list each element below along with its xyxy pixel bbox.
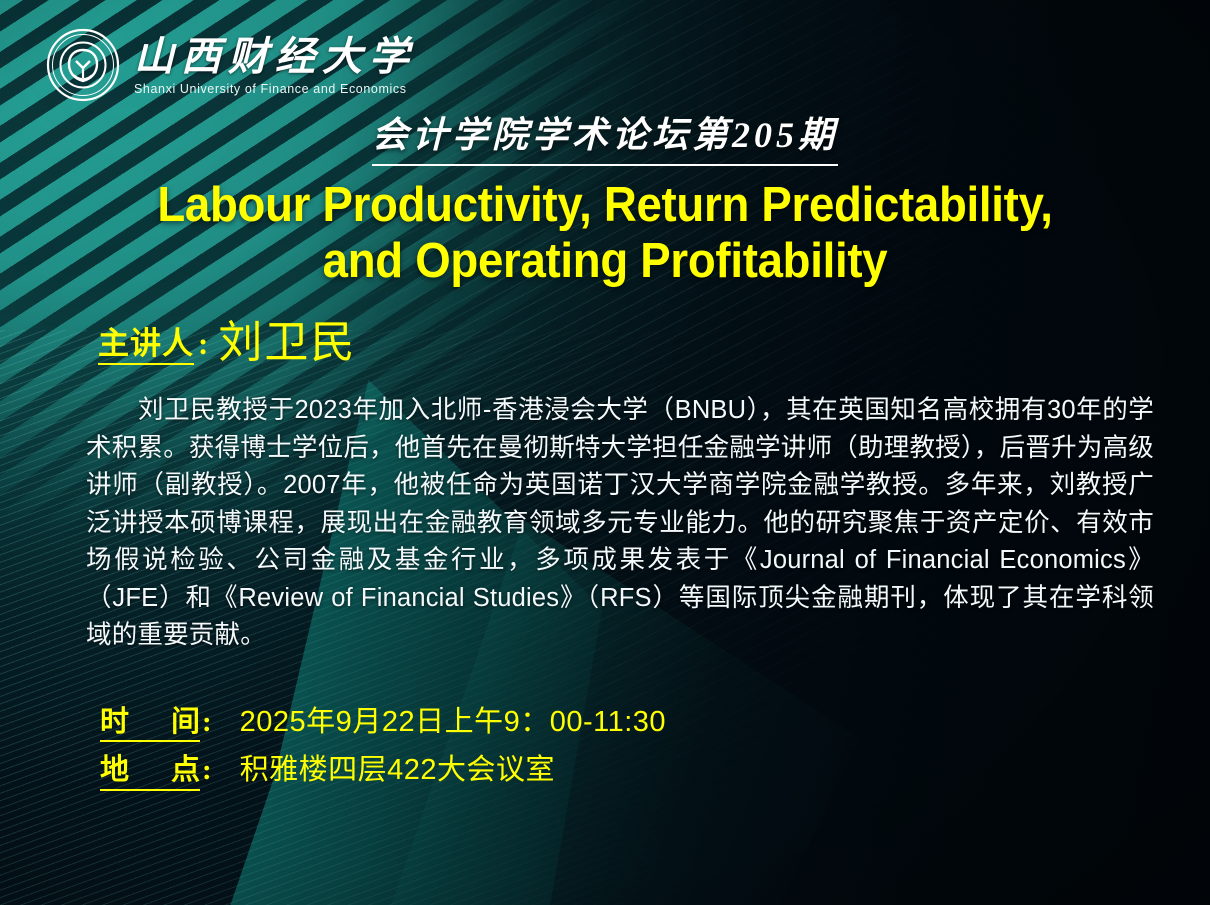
university-seal-icon xyxy=(46,28,120,102)
event-time-label-char-1: 时 xyxy=(100,706,129,739)
event-place-colon: : xyxy=(202,754,212,787)
talk-title: Labour Productivity, Return Predictabili… xyxy=(80,178,1131,290)
seminar-poster: 山西财经大学 Shanxi University of Finance and … xyxy=(0,0,1210,905)
event-time-value: 2025年9月22日上午9：00-11:30 xyxy=(240,706,666,739)
speaker-name: 刘卫民 xyxy=(218,321,356,365)
speaker-colon: : xyxy=(198,326,214,362)
speaker-row: 主讲人 : 刘卫民 xyxy=(98,318,356,365)
university-name-block: 山西财经大学 Shanxi University of Finance and … xyxy=(134,36,416,96)
forum-series-text: 会计学院学术论坛第205期 xyxy=(372,106,838,166)
speaker-label: 主讲人 xyxy=(98,327,194,365)
talk-title-line-1: Labour Productivity, Return Predictabili… xyxy=(80,178,1131,234)
event-time-label: 时 间 xyxy=(100,706,200,742)
event-place-row: 地 点 : 积雅楼四层422大会议室 xyxy=(100,754,666,790)
event-place-label-char-1: 地 xyxy=(100,754,129,787)
event-place-label: 地 点 xyxy=(100,754,200,790)
event-time-colon: : xyxy=(202,706,212,739)
event-time-label-char-2: 间 xyxy=(171,706,200,739)
speaker-biography: 刘卫民教授于2023年加入北师-香港浸会大学（BNBU），其在英国知名高校拥有3… xyxy=(86,392,1154,655)
event-time-row: 时 间 : 2025年9月22日上午9：00-11:30 xyxy=(100,706,666,742)
university-logo: 山西财经大学 Shanxi University of Finance and … xyxy=(46,28,416,102)
forum-series-heading: 会计学院学术论坛第205期 xyxy=(0,106,1210,166)
event-details: 时 间 : 2025年9月22日上午9：00-11:30 地 点 : 积雅楼四层… xyxy=(100,706,666,803)
event-place-value: 积雅楼四层422大会议室 xyxy=(240,754,555,787)
event-place-label-char-2: 点 xyxy=(171,754,200,787)
university-name-cn: 山西财经大学 xyxy=(134,36,416,78)
university-name-en: Shanxi University of Finance and Economi… xyxy=(134,82,416,96)
talk-title-line-2: and Operating Profitability xyxy=(80,234,1131,290)
poster-content: 山西财经大学 Shanxi University of Finance and … xyxy=(0,0,1210,905)
